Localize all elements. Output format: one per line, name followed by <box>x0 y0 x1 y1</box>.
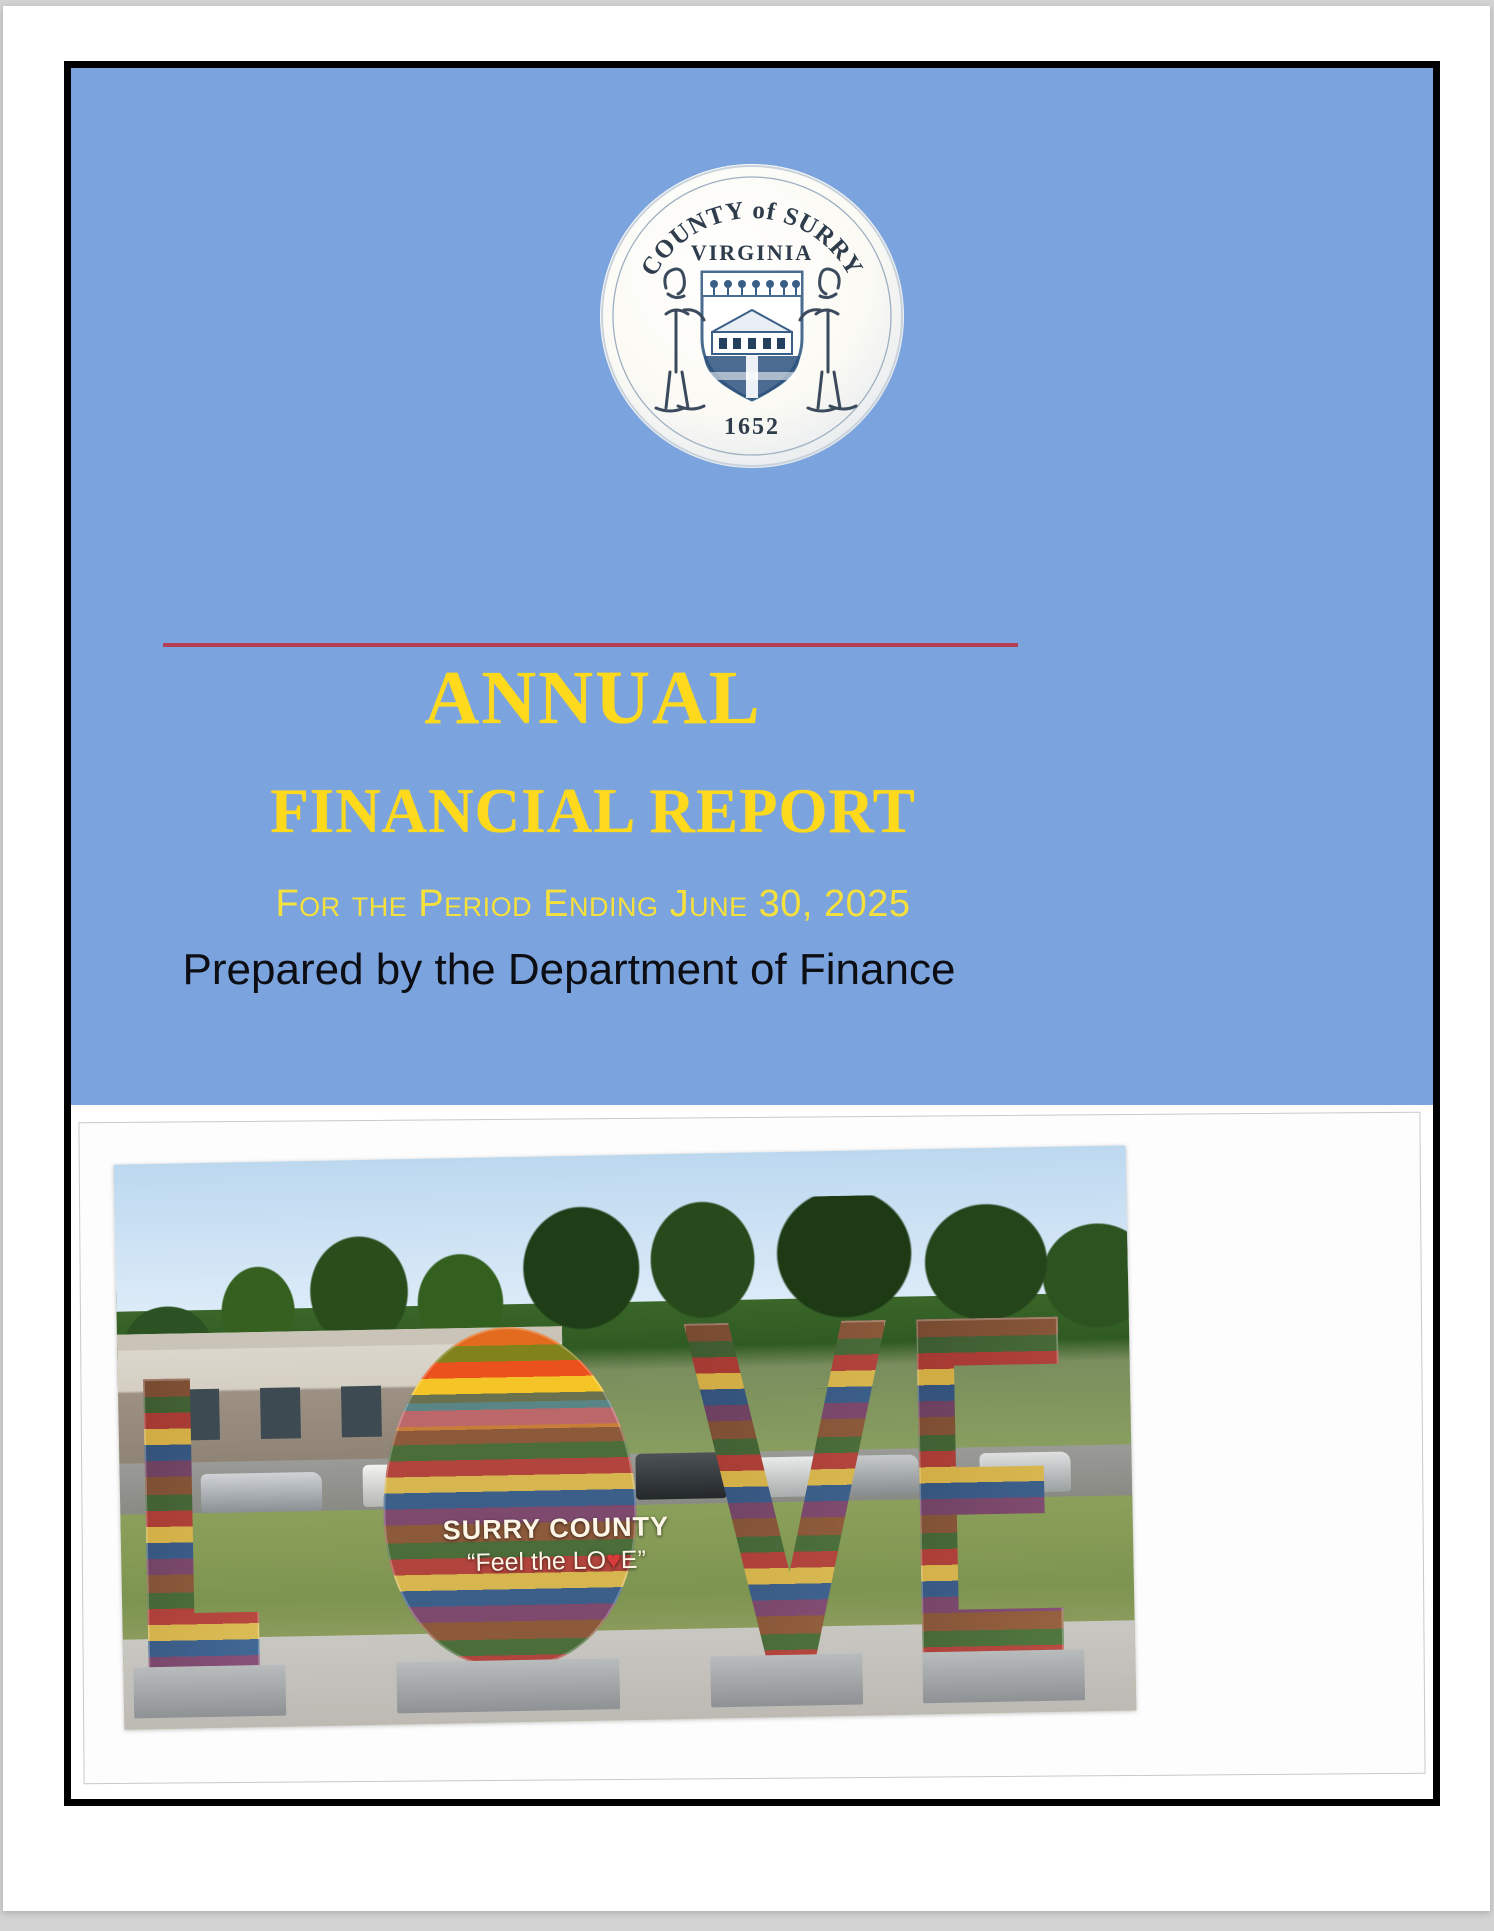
svg-text:VIRGINIA: VIRGINIA <box>691 240 813 265</box>
county-seal-icon: COUNTY of SURRY VIRGINIA <box>596 160 908 472</box>
seal-year: 1652 <box>724 414 780 440</box>
letter-plinth <box>923 1649 1086 1703</box>
report-title-line1: ANNUAL <box>163 660 1023 736</box>
title-divider-rule <box>163 643 1018 647</box>
love-sign-overlay: SURRY COUNTY “Feel the LO♥E” <box>404 1509 709 1579</box>
tagline-after: E” <box>621 1546 647 1574</box>
photo-car <box>635 1452 727 1499</box>
cover-photo-area: SURRY COUNTY “Feel the LO♥E” Visit us on… <box>71 1105 1433 1799</box>
photo-car <box>201 1472 323 1514</box>
surry-county-love-sign-photo: SURRY COUNTY “Feel the LO♥E” <box>114 1145 1137 1729</box>
letter-plinth <box>133 1664 286 1718</box>
letter-plinth <box>397 1658 621 1713</box>
prepared-by-line: Prepared by the Department of Finance <box>139 948 999 992</box>
tagline-before: “Feel the LO <box>467 1547 606 1578</box>
document-page: COUNTY of SURRY VIRGINIA <box>3 6 1490 1911</box>
photo-building-window <box>260 1387 301 1439</box>
feel-the-love-tagline: “Feel the LO♥E” <box>404 1544 708 1580</box>
cover-slide-frame: COUNTY of SURRY VIRGINIA <box>64 61 1440 1806</box>
surry-county-wordmark: SURRY COUNTY <box>404 1509 708 1547</box>
heart-icon: ♥ <box>606 1546 621 1574</box>
seal-container: COUNTY of SURRY VIRGINIA <box>71 160 1433 477</box>
photo-building-window <box>341 1386 382 1438</box>
letter-plinth <box>710 1653 863 1707</box>
report-title-line2: FINANCIAL REPORT <box>163 780 1023 843</box>
cover-blue-panel: COUNTY of SURRY VIRGINIA <box>71 68 1433 1105</box>
report-period-line: For the Period Ending June 30, 2025 <box>163 885 1023 923</box>
